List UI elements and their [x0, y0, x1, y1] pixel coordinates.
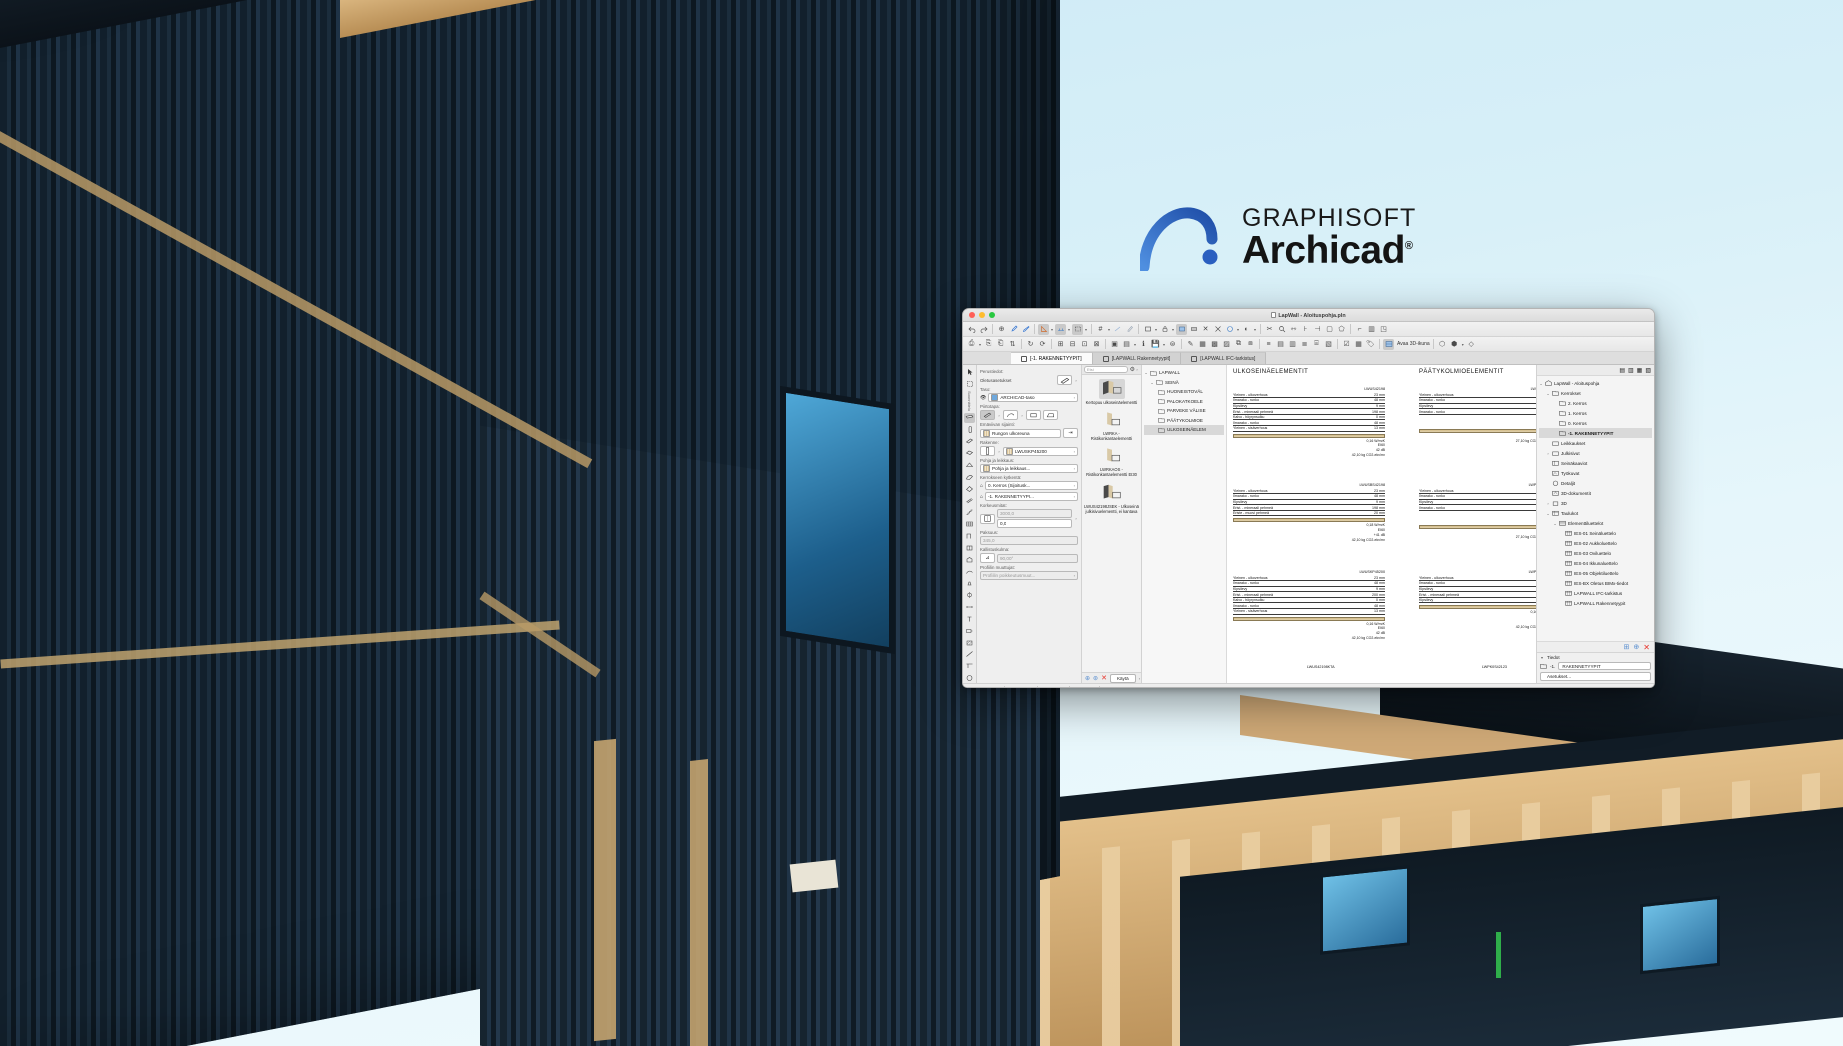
morph-icon[interactable]: [1224, 324, 1235, 335]
nav-item-label: 3D-dokumentit: [1561, 491, 1591, 496]
composite-swatch: [1233, 434, 1385, 438]
info-icon[interactable]: ℹ: [1138, 339, 1149, 350]
structure-row[interactable]: › LWUSKP45200 ›: [980, 446, 1078, 456]
tool-object-icon[interactable]: [964, 555, 975, 565]
chevron-right-icon[interactable]: ›: [1074, 449, 1075, 454]
info-name-field[interactable]: RAKENNETYYPIT: [1558, 662, 1651, 670]
tool-arrow-icon[interactable]: [964, 367, 975, 377]
story-link-select-2[interactable]: -1. RAKENNETYYPI... ›: [985, 492, 1078, 501]
thickness-row[interactable]: 345,0: [980, 536, 1078, 545]
check-doc-icon[interactable]: ☑: [1341, 339, 1352, 350]
partial-structure-controls[interactable]: ▦ Koko malli ›: [1105, 687, 1137, 689]
sun-icon[interactable]: ◐: [1241, 324, 1252, 335]
layer-row: Ilmarako - runko123 mm: [1419, 505, 1536, 511]
render-icon[interactable]: ◳: [1378, 324, 1389, 335]
tool-door-icon[interactable]: [964, 531, 975, 541]
tree-item-lapwall[interactable]: ⌄ LAPWALL: [1144, 368, 1224, 378]
tool-column-icon[interactable]: [964, 425, 975, 435]
story-icon: [1559, 410, 1566, 416]
favorites-apply-button[interactable]: Käytä: [1110, 674, 1136, 683]
bimx-icon[interactable]: ◇: [1466, 339, 1477, 350]
zoom-in-icon[interactable]: ⊕: [973, 687, 977, 689]
structure-select[interactable]: LWUSKP45200 ›: [1003, 447, 1078, 456]
favorites-list[interactable]: Kertopuu ulkoseinäelementti LWRKA - Rist…: [1082, 375, 1141, 672]
grid-snap-icon[interactable]: #: [1095, 324, 1106, 335]
chevron-right-icon[interactable]: ›: [1139, 676, 1140, 681]
tool-line-icon[interactable]: [964, 650, 975, 660]
chevron-right-icon[interactable]: ›: [1060, 687, 1064, 688]
text-style-icon[interactable]: ▤: [1275, 339, 1286, 350]
favorites-palette[interactable]: Etsi ⚙ › Kertopuu ulkoseinäelementti LWR…: [1082, 365, 1142, 683]
chevron-right-icon[interactable]: ›: [1074, 483, 1075, 488]
schedule-tool-icon[interactable]: ▦: [1353, 339, 1364, 350]
infobox-default-settings-row[interactable]: Oletusasetukset ›: [980, 375, 1078, 385]
guide-line-icon[interactable]: [1112, 324, 1123, 335]
document-icon: [1271, 312, 1276, 318]
align-left-icon[interactable]: ⊦: [1300, 324, 1311, 335]
nav-item-0-kerros[interactable]: 0. Kerros: [1539, 418, 1652, 428]
renovation-value[interactable]: Muu: [1080, 687, 1089, 688]
story-link-row-1[interactable]: ⌂ 0. Kerros (Sijoitusk... ›: [980, 481, 1078, 490]
tool-morph-icon[interactable]: [964, 484, 975, 494]
favorite-item[interactable]: LWUS42198JSEK - Ulkoseinä julkisivueleme…: [1083, 481, 1140, 517]
text-outline-icon[interactable]: ▧: [1323, 339, 1334, 350]
chevron-right-icon[interactable]: ›: [1135, 367, 1139, 372]
arrow-tool-icon[interactable]: [1038, 324, 1049, 335]
structure-type-button[interactable]: [980, 446, 995, 456]
nav-item-3d-dokumentit[interactable]: 3D-dokumentit: [1539, 488, 1652, 498]
hotlink-module-icon[interactable]: ⊟: [1067, 339, 1078, 350]
partial-structure-icon: ▦: [1105, 687, 1109, 689]
nav-item-ies-01[interactable]: IES-01 Seinäluettelo: [1539, 528, 1652, 538]
tool-window-icon[interactable]: [964, 543, 975, 553]
hotlink-icon[interactable]: ⊞: [1055, 339, 1066, 350]
chevron-down-icon[interactable]: ▾: [1540, 655, 1544, 660]
tool-curtainwall-icon[interactable]: [964, 496, 975, 506]
navigator-buttons[interactable]: ⊞ ⊕ ✕: [1537, 641, 1654, 652]
floorplan-canvas[interactable]: ULKOSEINÄELEMENTIT PÄÄTYKOLMIOELEMENTIT …: [1227, 365, 1536, 683]
tree-item-seina[interactable]: ⌄ SEINÄ: [1144, 378, 1224, 388]
profile-row[interactable]: Profiilin poikkeutusmuut... ›: [980, 571, 1078, 580]
chevron-right-icon[interactable]: ›: [1090, 687, 1094, 688]
chevron-down-icon[interactable]: ⌄: [1539, 381, 1543, 386]
nav-item-elementtiluettelot[interactable]: ⌄ Elementtiluettelot: [1539, 518, 1652, 528]
chevron-down-icon[interactable]: ⌄: [1546, 511, 1550, 516]
height-bottom-field[interactable]: 0,0: [997, 519, 1072, 528]
composite-block[interactable]: LWUS42198 Yleinen - ulkoverhous23 mm Ilm…: [1233, 387, 1385, 458]
chevron-down-icon[interactable]: ▾: [1171, 327, 1175, 332]
partial-structure-value[interactable]: Koko malli: [1111, 687, 1131, 688]
nav-item-3d[interactable]: › 3D: [1539, 498, 1652, 508]
app-body: Suunnittelu: [963, 365, 1654, 683]
navigator-tree[interactable]: ⌄ LapWall - Aloituspohja ⌄ Kerrokset 2. …: [1537, 376, 1654, 641]
view-settings-bar[interactable]: ⊖ ⊕ ⊙ 62% › ⟳ 0,00° › ▭ 1:50 › ⧉ Muu › ▦…: [963, 683, 1654, 688]
open-3d-window-label[interactable]: Avaa 3D-ikuna: [1397, 341, 1430, 347]
navigator-palette[interactable]: ▤ ▥ ▦ ▧ ⌄ LapWall - Aloituspohja ⌄ Kerro…: [1536, 365, 1654, 683]
chevron-down-icon[interactable]: ⌄: [1144, 370, 1148, 375]
orientation-controls[interactable]: ⟳ 0,00° ›: [1010, 687, 1032, 689]
library-icon[interactable]: ▣: [1109, 339, 1120, 350]
structure-tree-panel[interactable]: ⌄ LAPWALL ⌄ SEINÄ HUONEISTOVÄL PALOKATKO…: [1142, 365, 1227, 683]
renovation-controls[interactable]: ⧉ Muu ›: [1075, 687, 1095, 688]
bracket-icon[interactable]: ⌐: [1354, 324, 1365, 335]
reference-line-row[interactable]: Rungon ulkoreuna ⇥: [980, 428, 1078, 438]
text-left-icon[interactable]: ≡: [1263, 339, 1274, 350]
minimize-button[interactable]: [979, 312, 985, 318]
thickness-field[interactable]: 345,0: [980, 536, 1078, 545]
info-panel-header[interactable]: ▾ Tiedot: [1540, 655, 1651, 660]
toolbar-secondary[interactable]: ⎙ ▾ ⎘ ⎗ ⇅ ↻ ⟳ ⊞ ⊟ ⊡ ⊠ ▣ ▤ ▾ ℹ 💾 ▾ ⊜ ✎ ▦ …: [963, 337, 1654, 352]
align-right-icon[interactable]: ⊣: [1312, 324, 1323, 335]
group-icon[interactable]: ▢: [1324, 324, 1335, 335]
angle-value[interactable]: 0,00°: [1016, 687, 1026, 688]
tool-marquee-icon[interactable]: [964, 379, 975, 389]
reference-line-flip-button[interactable]: ⇥: [1063, 428, 1078, 438]
nav-item-taulukot[interactable]: ⌄ Taulukot: [1539, 508, 1652, 518]
height-top-field[interactable]: 3000,0: [997, 509, 1072, 518]
center-area: ⌄ LAPWALL ⌄ SEINÄ HUONEISTOVÄL PALOKATKO…: [1142, 365, 1536, 683]
slant-field[interactable]: 90,00°: [997, 554, 1078, 563]
profile-select[interactable]: Profiilin poikkeutusmuut... ›: [980, 571, 1078, 580]
toolbar-separator: [1091, 324, 1092, 334]
axonometry-icon[interactable]: ⬡: [1437, 339, 1448, 350]
layer-value: 23 mm: [1374, 393, 1385, 397]
marquee-tool-icon[interactable]: [1072, 324, 1083, 335]
thickness-label: Paksuus:: [980, 530, 1078, 535]
nav-item-label: Seinäkaaviot: [1561, 461, 1587, 466]
trim-icon[interactable]: [1176, 324, 1187, 335]
document-tabbar[interactable]: [-1. RAKENNETYYPIT] [LAPWALL Rakennetyyp…: [963, 352, 1654, 365]
maximize-button[interactable]: [989, 312, 995, 318]
nav-item-label: LapWall - Aloituspohja: [1554, 381, 1599, 386]
perspective-icon[interactable]: ⬢: [1449, 339, 1460, 350]
draw-mode-rect-button[interactable]: [1026, 410, 1041, 420]
nav-item-ies-bx[interactable]: IES-BX Oletus BIMx-tiedot: [1539, 578, 1652, 588]
chevron-right-icon[interactable]: ›: [997, 449, 1001, 454]
delete-icon[interactable]: ✕: [1643, 643, 1650, 652]
tool-grid-icon[interactable]: [964, 590, 975, 600]
layer-name: Ilmarako - runko: [1419, 410, 1445, 414]
settings-button[interactable]: Asetukset...: [1540, 672, 1651, 681]
composite-block[interactable]: LWPK04298 Yleinen - ulkoverhous23 mm Ilm…: [1419, 570, 1536, 629]
window-small-1: [1320, 865, 1410, 954]
dimension-icon[interactable]: ⇿: [1288, 324, 1299, 335]
story-link-value: 0. Kerros (Sijoitusk...: [988, 483, 1030, 488]
library-manager-icon[interactable]: ▤: [1121, 339, 1132, 350]
partial-structure-icon[interactable]: ⧈: [1245, 339, 1256, 350]
refresh-icon[interactable]: ↻: [1025, 339, 1036, 350]
tool-wall-icon[interactable]: [964, 413, 975, 423]
ungroup-icon[interactable]: ⬠: [1336, 324, 1347, 335]
nav-item-ies-04[interactable]: IES-04 Ikkunaluettelo: [1539, 558, 1652, 568]
tree-item-label: PÄÄTYKOLMIOE: [1167, 418, 1203, 423]
window-title: LapWall - Aloituspohja.pln: [963, 312, 1654, 319]
draw-mode-straight-button[interactable]: [980, 410, 995, 420]
chevron-right-icon[interactable]: ›: [1074, 516, 1078, 521]
reserve-icon[interactable]: ⎘: [983, 339, 994, 350]
nav-item-seinakaaviot[interactable]: Seinäkaaviot: [1539, 458, 1652, 468]
layer-value: 48 mm: [1374, 398, 1385, 402]
nav-item-1-kerros[interactable]: 1. Kerros: [1539, 408, 1652, 418]
chevron-down-icon[interactable]: ▾: [1236, 327, 1240, 332]
draw-mode-curved-button[interactable]: [1003, 410, 1018, 420]
chevron-down-icon[interactable]: ▾: [1084, 327, 1088, 332]
favorite-update-icon[interactable]: ⊛: [1093, 675, 1098, 682]
toolbar-separator: [992, 324, 993, 334]
chevron-right-icon[interactable]: ›: [1546, 451, 1550, 456]
teamwork-icon[interactable]: ⎙: [966, 339, 977, 350]
nav-item-kerrokset[interactable]: ⌄ Kerrokset: [1539, 388, 1652, 398]
save-icon[interactable]: 💾: [1150, 339, 1161, 350]
layer-select[interactable]: ARCHICAD-taso ›: [988, 393, 1078, 402]
zoom-controls[interactable]: ⊖ ⊕ ⊙ 62% ›: [967, 687, 999, 689]
layer-row[interactable]: 👁 ARCHICAD-taso ›: [980, 393, 1078, 402]
nav-item-label: Leikkaukset: [1561, 441, 1585, 446]
info-panel-row[interactable]: -1. RAKENNETYYPIT: [1540, 662, 1651, 670]
tool-stair-icon[interactable]: [964, 507, 975, 517]
scale-controls[interactable]: ▭ 1:50 ›: [1043, 687, 1064, 689]
chevron-down-icon[interactable]: ▾: [1154, 327, 1158, 332]
nav-item-label: IES-02 Aukkoluettelo: [1574, 541, 1617, 546]
zoom-icon[interactable]: [1276, 324, 1287, 335]
xref-icon[interactable]: ⊡: [1079, 339, 1090, 350]
favorite-item[interactable]: LWRKAOS - Ristikonkantaelementti EI30: [1083, 444, 1140, 480]
schedule-icon: [1565, 530, 1572, 536]
chevron-right-icon[interactable]: ›: [1074, 494, 1075, 499]
chevron-right-icon[interactable]: ›: [1028, 687, 1032, 688]
tree-item-parveke-valise[interactable]: PARVEKE VÄLISE: [1144, 406, 1224, 416]
navigator-toolbar[interactable]: ▤ ▥ ▦ ▧: [1537, 365, 1654, 376]
window-controls[interactable]: [963, 312, 995, 318]
text-fill-icon[interactable]: ▥: [1287, 339, 1298, 350]
adjust-icon[interactable]: [1188, 324, 1199, 335]
chevron-right-icon[interactable]: ›: [1074, 395, 1075, 400]
release-icon[interactable]: ⎗: [995, 339, 1006, 350]
intersect-icon[interactable]: ✕: [1200, 324, 1211, 335]
layout-book-icon[interactable]: ▦: [1637, 367, 1643, 374]
composite-block[interactable]: LWPK4298 Yleinen - ulkoverhous23 mm Ilma…: [1419, 387, 1536, 443]
story-link-row-2[interactable]: ⌂ -1. RAKENNETYYPI... ›: [980, 492, 1078, 501]
tool-dimension-icon[interactable]: [964, 602, 975, 612]
chevron-right-icon[interactable]: ›: [1074, 378, 1078, 383]
chevron-right-icon[interactable]: ›: [1546, 501, 1550, 506]
rect-select-icon[interactable]: [1142, 324, 1153, 335]
tool-shell-icon[interactable]: [964, 472, 975, 482]
chevron-down-icon[interactable]: ⌄: [1546, 391, 1550, 396]
undo-icon[interactable]: [966, 324, 977, 335]
send-receive-icon[interactable]: ⇅: [1007, 339, 1018, 350]
layer-name: Yleinen - sisäverhous: [1233, 426, 1267, 430]
orientation-icon[interactable]: ⟳: [1010, 687, 1014, 689]
slant-row[interactable]: ⊿ 90,00°: [980, 553, 1078, 563]
draw-mode-trapezoid-button[interactable]: [1043, 410, 1058, 420]
nav-item-leikkaukset[interactable]: Leikkaukset: [1539, 438, 1652, 448]
new-view-icon[interactable]: ⊞: [1624, 643, 1630, 651]
tree-item-huoneistoval[interactable]: HUONEISTOVÄL: [1144, 387, 1224, 397]
infobox-heading: Perustiedot:: [980, 369, 1078, 374]
archicad-window[interactable]: LapWall - Aloituspohja.pln ⊕ ▾ ▾ ▾: [962, 308, 1655, 688]
chevron-right-icon[interactable]: ›: [1134, 687, 1138, 688]
schedule-icon: [1565, 570, 1572, 576]
chart-icon[interactable]: ▥: [1366, 324, 1377, 335]
info-index: -1.: [1550, 664, 1555, 669]
publisher-icon[interactable]: ▧: [1645, 367, 1651, 374]
open-3d-window-icon[interactable]: [1383, 339, 1394, 350]
chevron-down-icon[interactable]: ▾: [1133, 342, 1137, 347]
favorite-item[interactable]: LWRKA - Ristikonkantaelementti: [1083, 408, 1140, 444]
layer-name: Yleinen - ulkoverhous: [1233, 393, 1268, 397]
favorite-add-icon[interactable]: ⊕: [1085, 675, 1090, 682]
lock-icon[interactable]: [1159, 324, 1170, 335]
chevron-down-icon[interactable]: ▾: [1253, 327, 1257, 332]
eyedropper-icon[interactable]: [1008, 324, 1019, 335]
chevron-down-icon[interactable]: ⌄: [1150, 380, 1154, 385]
zoom-value[interactable]: 62%: [984, 687, 993, 688]
profile-value: Profiilin poikkeutusmuut...: [983, 573, 1035, 578]
section-title-right: PÄÄTYKOLMIOELEMENTIT: [1419, 369, 1504, 375]
nav-item-rakennetyypit[interactable]: -1. RAKENNETYYPIT: [1539, 428, 1652, 438]
split-icon[interactable]: [1212, 324, 1223, 335]
nav-item-tyokuvat[interactable]: Työkuvat: [1539, 468, 1652, 478]
layer-combo-icon[interactable]: ▦: [1197, 339, 1208, 350]
navigator-info-panel[interactable]: ▾ Tiedot -1. RAKENNETYYPIT Asetukset...: [1537, 652, 1654, 683]
syringe-icon[interactable]: [1020, 324, 1031, 335]
nav-item-julkisivut[interactable]: › Julkisivut: [1539, 448, 1652, 458]
publish-icon[interactable]: ⊜: [1167, 339, 1178, 350]
layer-color-swatch: [991, 394, 998, 401]
tool-beam-icon[interactable]: [964, 436, 975, 446]
nav-item-ies-02[interactable]: IES-02 Aukkoluettelo: [1539, 538, 1652, 548]
tool-lamp-icon[interactable]: [964, 579, 975, 589]
nav-item-lapwall-rakennetyypit[interactable]: LAPWALL Rakennetyypit: [1539, 598, 1652, 608]
text-distribute-icon[interactable]: ⌸: [1311, 339, 1322, 350]
layer-label: Taso:: [980, 387, 1078, 392]
chevron-down-icon[interactable]: ▾: [978, 342, 982, 347]
scale-value[interactable]: 1:50: [1049, 687, 1058, 688]
tree-item-paatykolmioe[interactable]: PÄÄTYKOLMIOE: [1144, 416, 1224, 426]
chevron-down-icon[interactable]: ▾: [1461, 342, 1465, 347]
nav-item-ies-05[interactable]: IES-05 Objektiluettelo: [1539, 568, 1652, 578]
composite-swatch: [1419, 605, 1536, 609]
nav-item-project[interactable]: ⌄ LapWall - Aloituspohja: [1539, 378, 1652, 388]
redo-icon[interactable]: [978, 324, 989, 335]
composite-block[interactable]: LWPK42123 Yleinen - ulkoverhous20 mm Ilm…: [1419, 483, 1536, 539]
nav-item-detaljit[interactable]: Detaljit: [1539, 478, 1652, 488]
tool-zone-icon[interactable]: [964, 567, 975, 577]
tool-fill-icon[interactable]: [964, 638, 975, 648]
nav-item-lapwall-ifc[interactable]: LAPWALL IFC-tarkistus: [1539, 588, 1652, 598]
favorites-footer[interactable]: ⊕ ⊛ ✕ Käytä ›: [1082, 672, 1141, 683]
favorite-item[interactable]: Kertopuu ulkoseinäelementti: [1083, 377, 1140, 408]
tag-icon[interactable]: 🏷: [1365, 339, 1376, 350]
tool-label-icon[interactable]: [964, 626, 975, 636]
layer-name: Ilmarako - runko: [1233, 398, 1259, 402]
chevron-down-icon[interactable]: ▾: [1107, 327, 1111, 332]
chevron-right-icon[interactable]: ›: [997, 413, 1001, 418]
height-row[interactable]: 3000,0 0,0 ›: [980, 509, 1078, 528]
tab-rakennetyypit[interactable]: [-1. RAKENNETYYPIT]: [1011, 352, 1093, 364]
attach-icon[interactable]: ⊠: [1091, 339, 1102, 350]
cut-icon[interactable]: ✂: [1264, 324, 1275, 335]
tool-text-icon[interactable]: [964, 614, 975, 624]
chevron-right-icon[interactable]: ›: [995, 687, 999, 688]
renovation-filter-icon[interactable]: ⧉: [1233, 339, 1244, 350]
story-link-select[interactable]: 0. Kerros (Sijoitusk... ›: [985, 481, 1078, 490]
tab-lapwall-ifc-tarkistus[interactable]: [LAPWALL IFC-tarkistus]: [1181, 352, 1266, 364]
refresh-all-icon[interactable]: ⟳: [1037, 339, 1048, 350]
favorite-delete-icon[interactable]: ✕: [1101, 674, 1107, 682]
composite-block[interactable]: LWUSBS42198 Yleinen - ulkoverhous23 mm I…: [1233, 483, 1385, 542]
window-titlebar[interactable]: LapWall - Aloituspohja.pln: [963, 309, 1654, 322]
chevron-right-icon[interactable]: ›: [1074, 466, 1075, 471]
nav-item-2-kerros[interactable]: 2. Kerros: [1539, 398, 1652, 408]
project-map-icon[interactable]: ▤: [1619, 367, 1625, 374]
measure-icon[interactable]: ⊕: [996, 324, 1007, 335]
tab-lapwall-rakennetyypit[interactable]: [LAPWALL Rakennetyypit]: [1093, 352, 1182, 364]
composite-code: LWPK0S42123: [1482, 665, 1507, 669]
tree-item-palokatkoele[interactable]: PALOKATKOELE: [1144, 397, 1224, 407]
toolbox-palette[interactable]: Suunnittelu: [963, 365, 977, 683]
tool-slab-icon[interactable]: [964, 448, 975, 458]
pen-set-icon[interactable]: ✎: [1185, 339, 1196, 350]
zoom-fit-icon[interactable]: ⊙: [978, 687, 982, 689]
tool-section-icon[interactable]: [964, 661, 975, 671]
reference-line-select[interactable]: Rungon ulkoreuna: [980, 429, 1061, 438]
favorite-label: Kertopuu ulkoseinäelementti: [1084, 400, 1139, 405]
layer-name: Erist. - mineraali pehmeä: [1233, 410, 1273, 414]
text-align-icon[interactable]: ≣: [1299, 339, 1310, 350]
toolbar-primary[interactable]: ⊕ ▾ ▾ ▾ # ▾ ▾: [963, 322, 1654, 337]
model-view-icon[interactable]: ▩: [1209, 339, 1220, 350]
timber-post-2: [690, 759, 708, 1046]
favorites-header[interactable]: Etsi ⚙ ›: [1082, 365, 1141, 375]
chevron-down-icon[interactable]: ▾: [1050, 327, 1054, 332]
graphic-override-icon[interactable]: ▨: [1221, 339, 1232, 350]
chevron-right-icon[interactable]: ›: [1074, 573, 1075, 578]
info-box-panel[interactable]: Perustiedot: Oletusasetukset › Taso: 👁 A…: [977, 365, 1082, 683]
composite-block[interactable]: LWUSKP45200 Yleinen - ulkoverhous23 mm I…: [1233, 570, 1385, 641]
composite-code: LWPK42123: [1419, 483, 1536, 487]
chevron-right-icon[interactable]: ›: [1020, 413, 1024, 418]
layer-value: 0 mm: [1376, 598, 1385, 602]
zoom-out-icon[interactable]: ⊖: [967, 687, 971, 689]
tool-detail-icon[interactable]: [964, 673, 975, 683]
tool-roof-icon[interactable]: [964, 460, 975, 470]
plan-section-select[interactable]: Pohja ja leikkaus... ›: [980, 464, 1078, 473]
eye-icon[interactable]: 👁: [980, 395, 986, 401]
plan-section-row[interactable]: Pohja ja leikkaus... ›: [980, 464, 1078, 473]
close-button[interactable]: [969, 312, 975, 318]
home-story-icon: ⌂: [980, 483, 983, 489]
pen-icon[interactable]: [1124, 324, 1135, 335]
tree-item-ulkoseinaelem[interactable]: ULKOSEINÄELEM: [1144, 425, 1224, 435]
nav-item-ies-03[interactable]: IES-03 Oviluettelo: [1539, 548, 1652, 558]
clone-folder-icon[interactable]: ⊕: [1633, 643, 1639, 651]
chevron-down-icon[interactable]: ▾: [1162, 342, 1166, 347]
snap-tool-icon[interactable]: [1055, 324, 1066, 335]
tree-item-label: PALOKATKOELE: [1167, 399, 1203, 404]
plan-section-label: Pohja ja leikkaus:: [980, 458, 1078, 463]
composite-swatch: [1233, 617, 1385, 621]
chevron-down-icon[interactable]: ▾: [1067, 327, 1071, 332]
favorites-search-input[interactable]: Etsi: [1084, 366, 1128, 373]
draw-mode-row[interactable]: › ›: [980, 410, 1078, 420]
story-link-label: Kerrokseen kytkentä:: [980, 475, 1078, 480]
chevron-down-icon[interactable]: ⌄: [1553, 521, 1557, 526]
view-map-icon[interactable]: ▥: [1628, 367, 1634, 374]
tool-mesh-icon[interactable]: [964, 519, 975, 529]
default-settings-button[interactable]: [1057, 375, 1072, 385]
